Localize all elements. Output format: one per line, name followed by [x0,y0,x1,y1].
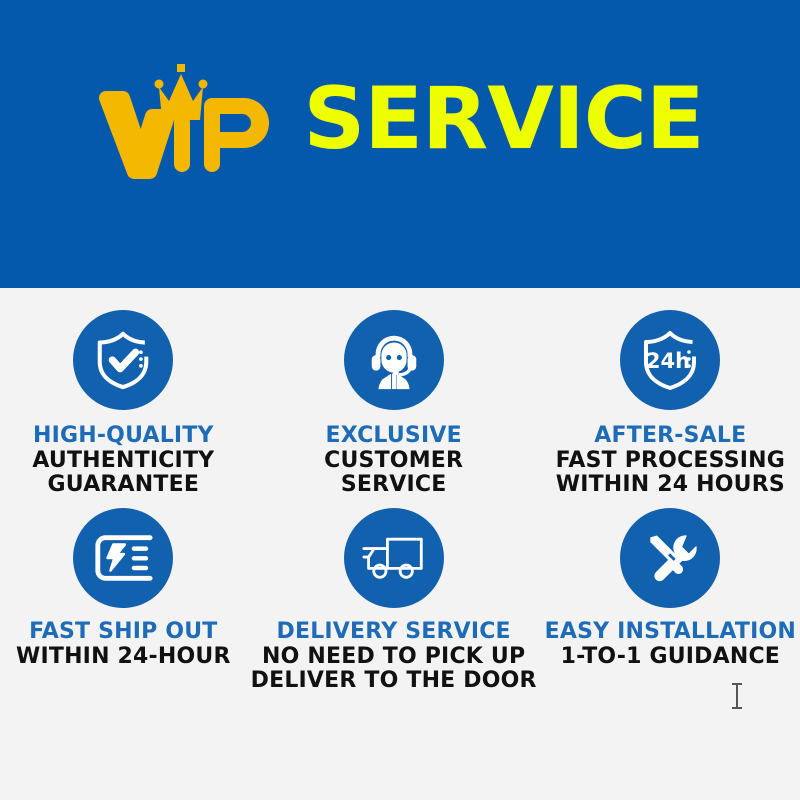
feature-card-fast-ship-out: FAST SHIP OUT WITHIN 24-HOUR [0,508,247,694]
feature-card-delivery-service: DELIVERY SERVICE NO NEED TO PICK UP DELI… [247,508,541,694]
feature-headline: FAST SHIP OUT [16,620,231,645]
feature-line-2: SERVICE [324,473,463,498]
feature-line-1: AUTHENTICITY [32,449,214,474]
feature-line-1: WITHIN 24-HOUR [16,645,231,670]
feature-line-2: GUARANTEE [32,473,214,498]
feature-caption: FAST SHIP OUT WITHIN 24-HOUR [16,620,231,669]
header-banner: SERVICE [0,0,800,288]
feature-caption: AFTER-SALE FAST PROCESSING WITHIN 24 HOU… [556,424,785,498]
fast-shipping-label-icon [73,508,173,608]
feature-caption: EASY INSTALLATION 1-TO-1 GUIDANCE [545,620,796,669]
delivery-truck-icon [344,508,444,608]
feature-caption: EXCLUSIVE CUSTOMER SERVICE [324,424,463,498]
vip-wordmark [96,54,301,174]
feature-line-1: CUSTOMER [324,449,463,474]
feature-card-exclusive-customer-service: EXCLUSIVE CUSTOMER SERVICE [247,310,541,498]
feature-line-2: WITHIN 24 HOURS [556,473,785,498]
shield-24h-label: 24h [646,349,690,373]
text-cursor-artifact [736,683,738,709]
feature-line-1: FAST PROCESSING [556,449,785,474]
shield-24h-icon: 24h [620,310,720,410]
feature-line-2: DELIVER TO THE DOOR [251,669,537,694]
feature-headline: EXCLUSIVE [324,424,463,449]
feature-caption: HIGH-QUALITY AUTHENTICITY GUARANTEE [32,424,214,498]
feature-headline: HIGH-QUALITY [32,424,214,449]
service-wordmark: SERVICE [303,76,703,162]
feature-headline: AFTER-SALE [556,424,785,449]
feature-headline: DELIVERY SERVICE [251,620,537,645]
feature-grid: HIGH-QUALITY AUTHENTICITY GUARANTEE [0,288,800,694]
feature-line-1: 1-TO-1 GUIDANCE [545,645,796,670]
feature-line-1: NO NEED TO PICK UP [251,645,537,670]
feature-caption: DELIVERY SERVICE NO NEED TO PICK UP DELI… [251,620,537,694]
shield-check-icon [73,310,173,410]
headset-agent-icon [344,310,444,410]
brand-logo-lockup: SERVICE [96,54,703,174]
wrench-screwdriver-icon [620,508,720,608]
feature-card-high-quality: HIGH-QUALITY AUTHENTICITY GUARANTEE [0,310,247,498]
vip-service-infographic: SERVICE HIGH-QUALITY AUTHENTICITY GUARAN… [0,0,800,800]
feature-card-easy-installation: EASY INSTALLATION 1-TO-1 GUIDANCE [541,508,800,694]
feature-card-after-sale: 24h AFTER-SALE FAST PROCESSING WITHIN 24… [541,310,800,498]
feature-headline: EASY INSTALLATION [545,620,796,645]
